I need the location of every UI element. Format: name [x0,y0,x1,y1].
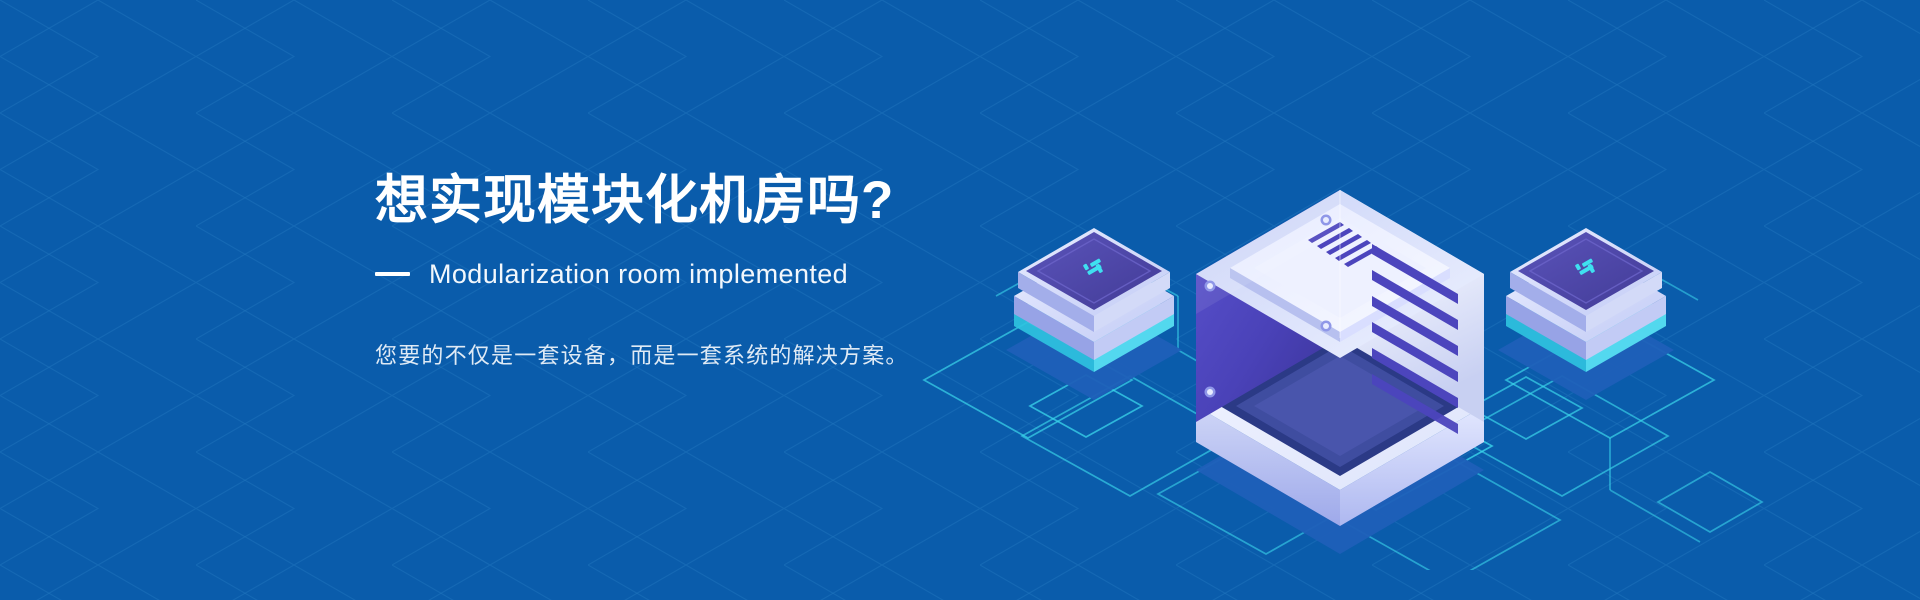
hero-description: 您要的不仅是一套设备，而是一套系统的解决方案。 [375,338,1135,373]
page-title: 想实现模块化机房吗? [375,170,1135,233]
hero-banner: 想实现模块化机房吗? Modularization room implement… [0,0,1920,600]
hero-text-block: 想实现模块化机房吗? Modularization room implement… [375,170,1135,373]
dash-rule-icon [375,272,410,276]
page-subtitle: Modularization room implemented [429,259,848,290]
subtitle-row: Modularization room implemented [375,259,1135,290]
